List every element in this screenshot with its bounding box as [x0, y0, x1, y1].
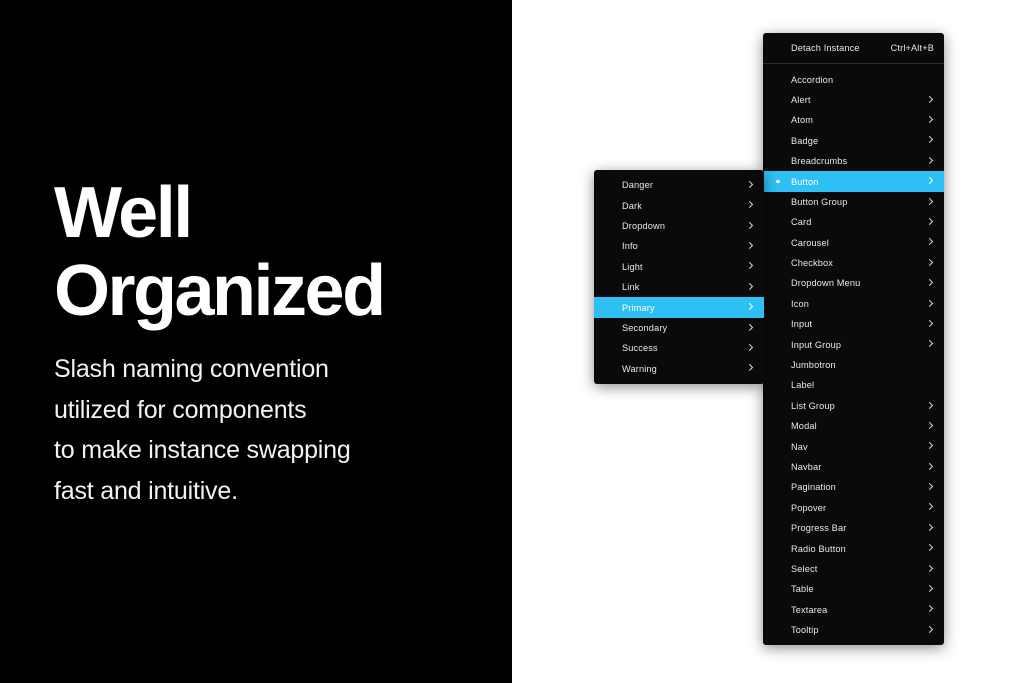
menu-item-table[interactable]: Table: [763, 579, 944, 599]
chevron-right-icon: [746, 282, 754, 293]
menu-item-label: Navbar: [791, 462, 916, 472]
menu-item-success[interactable]: Success: [594, 338, 764, 358]
menu-item-card[interactable]: Card: [763, 212, 944, 232]
menu-item-dark[interactable]: Dark: [594, 195, 764, 215]
selected-radio-icon: [776, 180, 780, 184]
menu-item-carousel[interactable]: Carousel: [763, 233, 944, 253]
menu-item-jumbotron[interactable]: Jumbotron: [763, 355, 944, 375]
menu-item-label: Card: [791, 217, 916, 227]
menu-item-button-group[interactable]: Button Group: [763, 192, 944, 212]
menu-item-select[interactable]: Select: [763, 559, 944, 579]
left-hero-panel: WellOrganized Slash naming conventionuti…: [0, 0, 512, 683]
chevron-right-icon: [926, 563, 934, 574]
chevron-right-icon: [926, 319, 934, 330]
chevron-right-icon: [926, 237, 934, 248]
chevron-right-icon: [926, 604, 934, 615]
menu-item-label: Atom: [791, 115, 916, 125]
menu-item-tooltip[interactable]: Tooltip: [763, 620, 944, 640]
chevron-right-icon: [926, 543, 934, 554]
menu-item-navbar[interactable]: Navbar: [763, 457, 944, 477]
menu-item-warning[interactable]: Warning: [594, 359, 764, 379]
chevron-right-icon: [746, 200, 754, 211]
menu-item-dropdown[interactable]: Dropdown: [594, 216, 764, 236]
chevron-right-icon: [746, 220, 754, 231]
subcopy-line: fast and intuitive.: [54, 471, 351, 512]
chevron-right-icon: [926, 156, 934, 167]
chevron-right-icon: [746, 343, 754, 354]
chevron-right-icon: [926, 176, 934, 187]
menu-item-shortcut: Ctrl+Alt+B: [891, 43, 934, 53]
chevron-right-icon: [926, 441, 934, 452]
headline-line: Well: [54, 174, 384, 252]
chevron-right-icon: [926, 278, 934, 289]
menu-item-accordion[interactable]: Accordion: [763, 69, 944, 89]
menu-item-textarea[interactable]: Textarea: [763, 600, 944, 620]
menu-item-danger[interactable]: Danger: [594, 175, 764, 195]
chevron-right-icon: [926, 339, 934, 350]
component-instance-menu[interactable]: Detach Instance Ctrl+Alt+B AccordionAler…: [763, 33, 944, 645]
chevron-right-icon: [926, 258, 934, 269]
menu-item-list-group[interactable]: List Group: [763, 396, 944, 416]
menu-item-dropdown-menu[interactable]: Dropdown Menu: [763, 273, 944, 293]
menu-item-label: Button Group: [791, 197, 916, 207]
menu-item-primary[interactable]: Primary: [594, 297, 764, 317]
menu-item-label: Dropdown Menu: [791, 278, 916, 288]
menu-item-label: Select: [791, 564, 916, 574]
menu-item-label: Label: [791, 380, 934, 390]
menu-item-label: Primary: [622, 303, 736, 313]
menu-item-radio-button[interactable]: Radio Button: [763, 538, 944, 558]
menu-item-label: Success: [622, 343, 736, 353]
page-description: Slash naming conventionutilized for comp…: [54, 349, 351, 511]
menu-item-label: Modal: [791, 421, 916, 431]
page-title: WellOrganized: [54, 174, 384, 330]
menu-item-light[interactable]: Light: [594, 257, 764, 277]
menu-item-label: Accordion: [791, 75, 934, 85]
menu-item-breadcrumbs[interactable]: Breadcrumbs: [763, 151, 944, 171]
chevron-right-icon: [926, 135, 934, 146]
menu-item-alert[interactable]: Alert: [763, 90, 944, 110]
menu-item-label: Secondary: [622, 323, 736, 333]
chevron-right-icon: [926, 523, 934, 534]
menu-item-label: Popover: [791, 503, 916, 513]
menu-item-icon[interactable]: Icon: [763, 294, 944, 314]
chevron-right-icon: [926, 298, 934, 309]
menu-item-label: Carousel: [791, 238, 916, 248]
menu-item-label: Dropdown: [622, 221, 736, 231]
menu-item-input[interactable]: Input: [763, 314, 944, 334]
subcopy-line: utilized for components: [54, 390, 351, 431]
menu-item-label: Warning: [622, 364, 736, 374]
menu-item-detach-instance[interactable]: Detach Instance Ctrl+Alt+B: [763, 38, 944, 58]
menu-item-label: Button: [791, 177, 916, 187]
menu-item-label: Textarea: [791, 605, 916, 615]
menu-item-modal[interactable]: Modal: [763, 416, 944, 436]
menu-item-secondary[interactable]: Secondary: [594, 318, 764, 338]
chevron-right-icon: [746, 302, 754, 313]
button-variant-submenu[interactable]: DangerDarkDropdownInfoLightLinkPrimarySe…: [594, 170, 764, 384]
menu-item-label: Progress Bar: [791, 523, 916, 533]
headline-line: Organized: [54, 252, 384, 330]
chevron-right-icon: [926, 196, 934, 207]
menu-item-label[interactable]: Label: [763, 375, 944, 395]
menu-item-label: Input Group: [791, 340, 916, 350]
menu-item-label: Breadcrumbs: [791, 156, 916, 166]
chevron-right-icon: [926, 217, 934, 228]
menu-item-input-group[interactable]: Input Group: [763, 334, 944, 354]
chevron-right-icon: [746, 180, 754, 191]
chevron-right-icon: [926, 584, 934, 595]
menu-item-label: Dark: [622, 201, 736, 211]
chevron-right-icon: [926, 462, 934, 473]
menu-item-atom[interactable]: Atom: [763, 110, 944, 130]
menu-item-label: Info: [622, 241, 736, 251]
menu-item-label: Light: [622, 262, 736, 272]
menu-item-label: Danger: [622, 180, 736, 190]
menu-item-label: Nav: [791, 442, 916, 452]
menu-item-link[interactable]: Link: [594, 277, 764, 297]
subcopy-line: Slash naming convention: [54, 349, 351, 390]
menu-item-badge[interactable]: Badge: [763, 131, 944, 151]
chevron-right-icon: [926, 115, 934, 126]
menu-header-section: Detach Instance Ctrl+Alt+B: [763, 33, 944, 63]
chevron-right-icon: [746, 261, 754, 272]
menu-item-checkbox[interactable]: Checkbox: [763, 253, 944, 273]
menu-item-info[interactable]: Info: [594, 236, 764, 256]
menu-item-label: Link: [622, 282, 736, 292]
right-preview-panel: Detach Instance Ctrl+Alt+B AccordionAler…: [512, 0, 1024, 683]
menu-item-label: Badge: [791, 136, 916, 146]
menu-item-label: Pagination: [791, 482, 916, 492]
subcopy-line: to make instance swapping: [54, 430, 351, 471]
menu-item-progress-bar[interactable]: Progress Bar: [763, 518, 944, 538]
menu-item-nav[interactable]: Nav: [763, 436, 944, 456]
menu-item-label: List Group: [791, 401, 916, 411]
chevron-right-icon: [926, 94, 934, 105]
menu-item-button[interactable]: Button: [763, 171, 944, 191]
menu-item-label: Radio Button: [791, 544, 916, 554]
menu-item-popover[interactable]: Popover: [763, 498, 944, 518]
chevron-right-icon: [926, 400, 934, 411]
chevron-right-icon: [926, 482, 934, 493]
chevron-right-icon: [746, 322, 754, 333]
menu-item-label: Checkbox: [791, 258, 916, 268]
component-menu-list: AccordionAlertAtomBadgeBreadcrumbsButton…: [763, 64, 944, 645]
menu-item-label: Tooltip: [791, 625, 916, 635]
chevron-right-icon: [926, 625, 934, 636]
menu-item-label: Detach Instance: [791, 43, 869, 53]
variant-menu-list: DangerDarkDropdownInfoLightLinkPrimarySe…: [594, 170, 764, 384]
menu-item-pagination[interactable]: Pagination: [763, 477, 944, 497]
chevron-right-icon: [926, 502, 934, 513]
menu-item-label: Input: [791, 319, 916, 329]
menu-item-label: Icon: [791, 299, 916, 309]
menu-item-label: Alert: [791, 95, 916, 105]
menu-item-label: Table: [791, 584, 916, 594]
chevron-right-icon: [746, 241, 754, 252]
menu-item-label: Jumbotron: [791, 360, 934, 370]
chevron-right-icon: [926, 421, 934, 432]
chevron-right-icon: [746, 363, 754, 374]
